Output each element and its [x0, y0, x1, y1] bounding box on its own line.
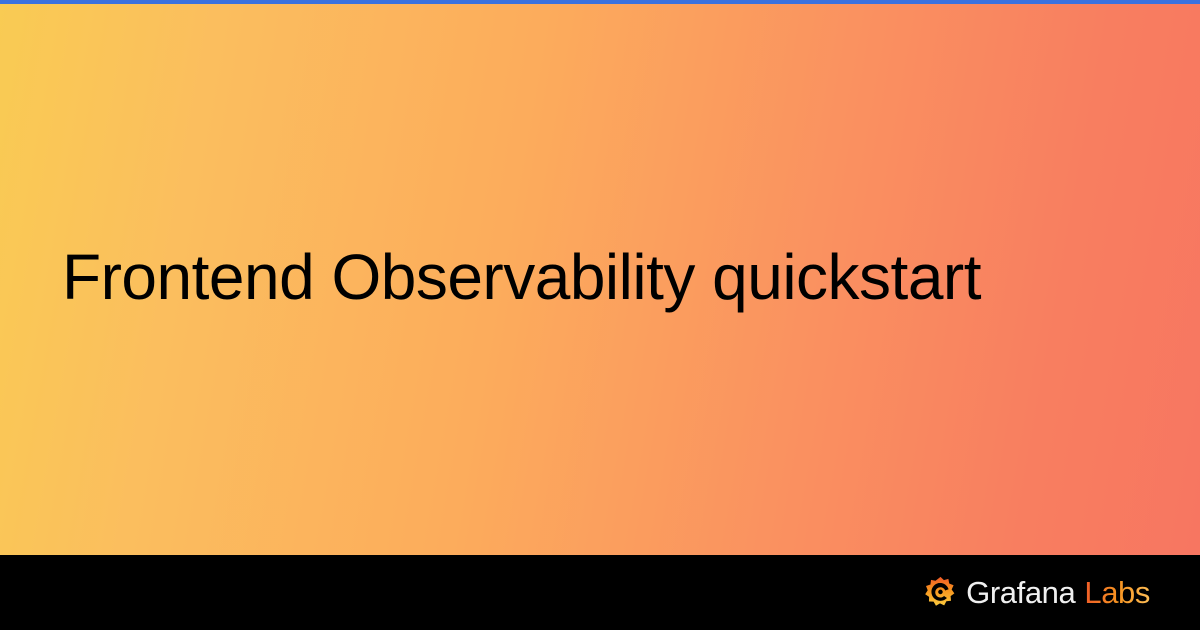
grafana-labs-logo: Grafana Labs — [924, 576, 1150, 609]
grafana-flame-icon — [924, 576, 957, 609]
hero-banner: Frontend Observability quickstart — [0, 0, 1200, 555]
top-accent-bar — [0, 0, 1200, 4]
open-graph-card: Frontend Observability quickstart Grafan… — [0, 0, 1200, 630]
wordmark-labs: Labs — [1084, 577, 1150, 608]
footer-bar: Grafana Labs — [0, 555, 1200, 630]
wordmark-grafana: Grafana — [966, 577, 1075, 608]
hero-content: Frontend Observability quickstart — [0, 241, 1200, 314]
grafana-labs-wordmark: Grafana Labs — [966, 577, 1150, 608]
page-title: Frontend Observability quickstart — [62, 241, 1122, 314]
